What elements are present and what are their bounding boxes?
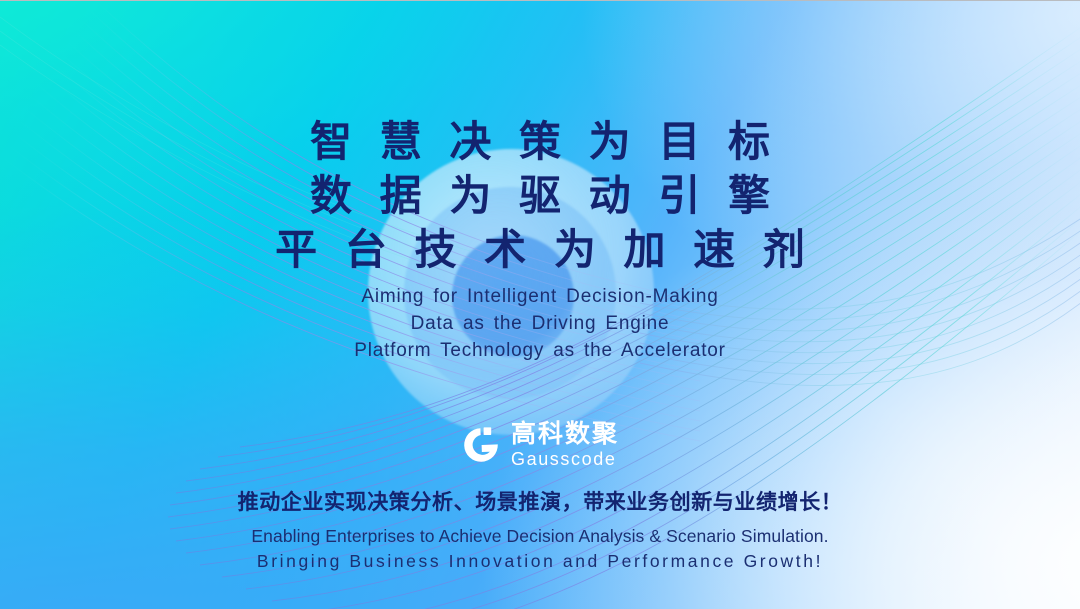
tagline-english-line-1: Enabling Enterprises to Achieve Decision… — [251, 524, 828, 549]
headline-line-2: 数 据 为 驱 动 引 擎 — [267, 169, 813, 223]
poster-content: 智 慧 决 策 为 目 标 数 据 为 驱 动 引 擎 平 台 技 术 为 加 … — [0, 1, 1080, 609]
headline-block: 智 慧 决 策 为 目 标 数 据 为 驱 动 引 擎 平 台 技 术 为 加 … — [267, 115, 813, 277]
subtitle-line-3: Platform Technology as the Accelerator — [354, 337, 726, 364]
logo-text-block: 高科数聚 Gausscode — [511, 422, 619, 468]
logo-name-en: Gausscode — [511, 450, 619, 468]
logo-name-cn: 高科数聚 — [511, 422, 619, 447]
tagline-english-line-2: Bringing Business Innovation and Perform… — [251, 549, 828, 574]
subtitle-line-2: Data as the Driving Engine — [354, 310, 726, 337]
tagline-chinese: 推动企业实现决策分析、场景推演，带来业务创新与业绩增长！ — [238, 486, 843, 516]
gausscode-g-mark-icon — [461, 425, 501, 465]
headline-line-1: 智 慧 决 策 为 目 标 — [267, 115, 813, 169]
headline-line-3: 平 台 技 术 为 加 速 剂 — [267, 223, 813, 277]
poster-canvas: 智 慧 决 策 为 目 标 数 据 为 驱 动 引 擎 平 台 技 术 为 加 … — [0, 0, 1080, 609]
subtitle-english-block: Aiming for Intelligent Decision-Making D… — [354, 283, 726, 364]
company-logo: 高科数聚 Gausscode — [461, 422, 619, 468]
tagline-english-block: Enabling Enterprises to Achieve Decision… — [251, 524, 828, 574]
subtitle-line-1: Aiming for Intelligent Decision-Making — [354, 283, 726, 310]
